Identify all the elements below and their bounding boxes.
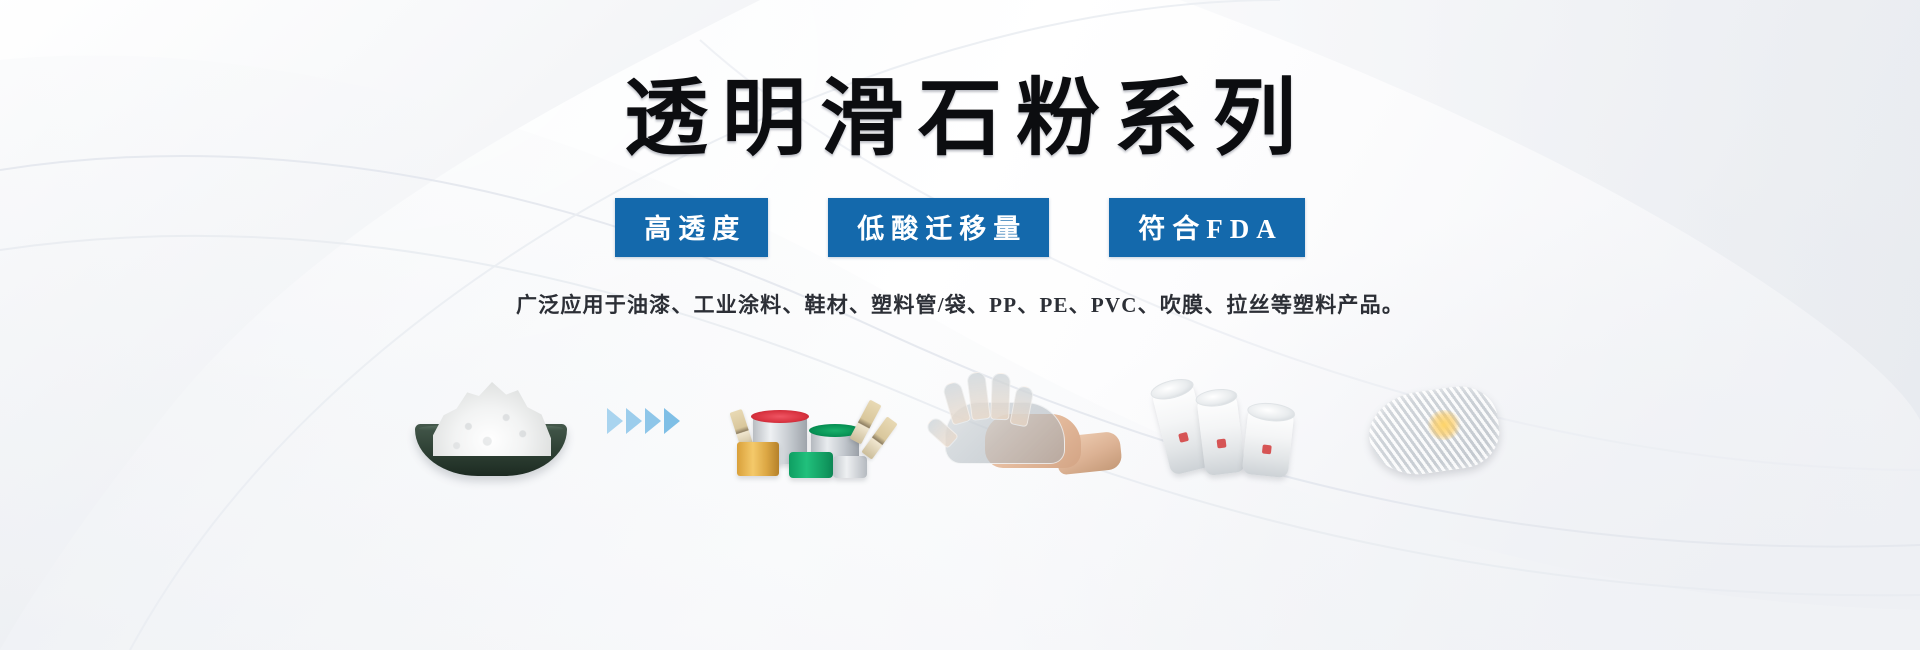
roll-label-dot xyxy=(1178,432,1189,443)
paint-can-silver xyxy=(833,456,867,478)
paint-can-teal xyxy=(789,452,833,478)
paint-can-yellow xyxy=(737,442,779,476)
product-banner: 透明滑石粉系列 高透度 低酸迁移量 符合FDA 广泛应用于油漆、工业涂料、鞋材、… xyxy=(0,0,1920,650)
film-roll-shape xyxy=(1196,394,1245,476)
feature-badge-high-transparency[interactable]: 高透度 xyxy=(615,198,768,257)
product-application-strip xyxy=(0,348,1920,478)
shoe-sole-image xyxy=(1353,360,1523,478)
chevron-arrow-row xyxy=(607,408,680,434)
application-description: 广泛应用于油漆、工业涂料、鞋材、塑料管/袋、PP、PE、PVC、吹膜、拉丝等塑料… xyxy=(516,289,1404,319)
roll-label-dot xyxy=(1262,444,1272,454)
process-arrows-icon xyxy=(603,360,723,478)
sole-highlight xyxy=(1427,410,1461,440)
chevron-right-icon xyxy=(664,408,680,434)
finger-shape xyxy=(990,373,1011,421)
feature-badge-low-acid-migration[interactable]: 低酸迁移量 xyxy=(828,198,1049,257)
talc-powder-bowl-image xyxy=(397,360,587,478)
chevron-right-icon xyxy=(607,408,623,434)
page-title: 透明滑石粉系列 xyxy=(610,78,1310,162)
can-lid xyxy=(751,410,809,423)
paint-cans-image xyxy=(729,360,919,478)
plastic-film-rolls-image xyxy=(1149,360,1339,478)
roll-label-dot xyxy=(1217,438,1227,448)
roll-cap xyxy=(1195,387,1239,409)
chevron-right-icon xyxy=(645,408,661,434)
roll-cap xyxy=(1149,375,1196,403)
feature-badge-group: 高透度 低酸迁移量 符合FDA xyxy=(615,198,1305,257)
banner-content: 透明滑石粉系列 高透度 低酸迁移量 符合FDA 广泛应用于油漆、工业涂料、鞋材、… xyxy=(0,0,1920,650)
chevron-right-icon xyxy=(626,408,642,434)
gloved-hand-image xyxy=(929,360,1139,478)
film-roll-shape xyxy=(1242,408,1295,478)
feature-badge-fda-compliant[interactable]: 符合FDA xyxy=(1109,198,1305,257)
powder-heap-shape xyxy=(433,382,551,456)
roll-cap xyxy=(1246,401,1296,424)
